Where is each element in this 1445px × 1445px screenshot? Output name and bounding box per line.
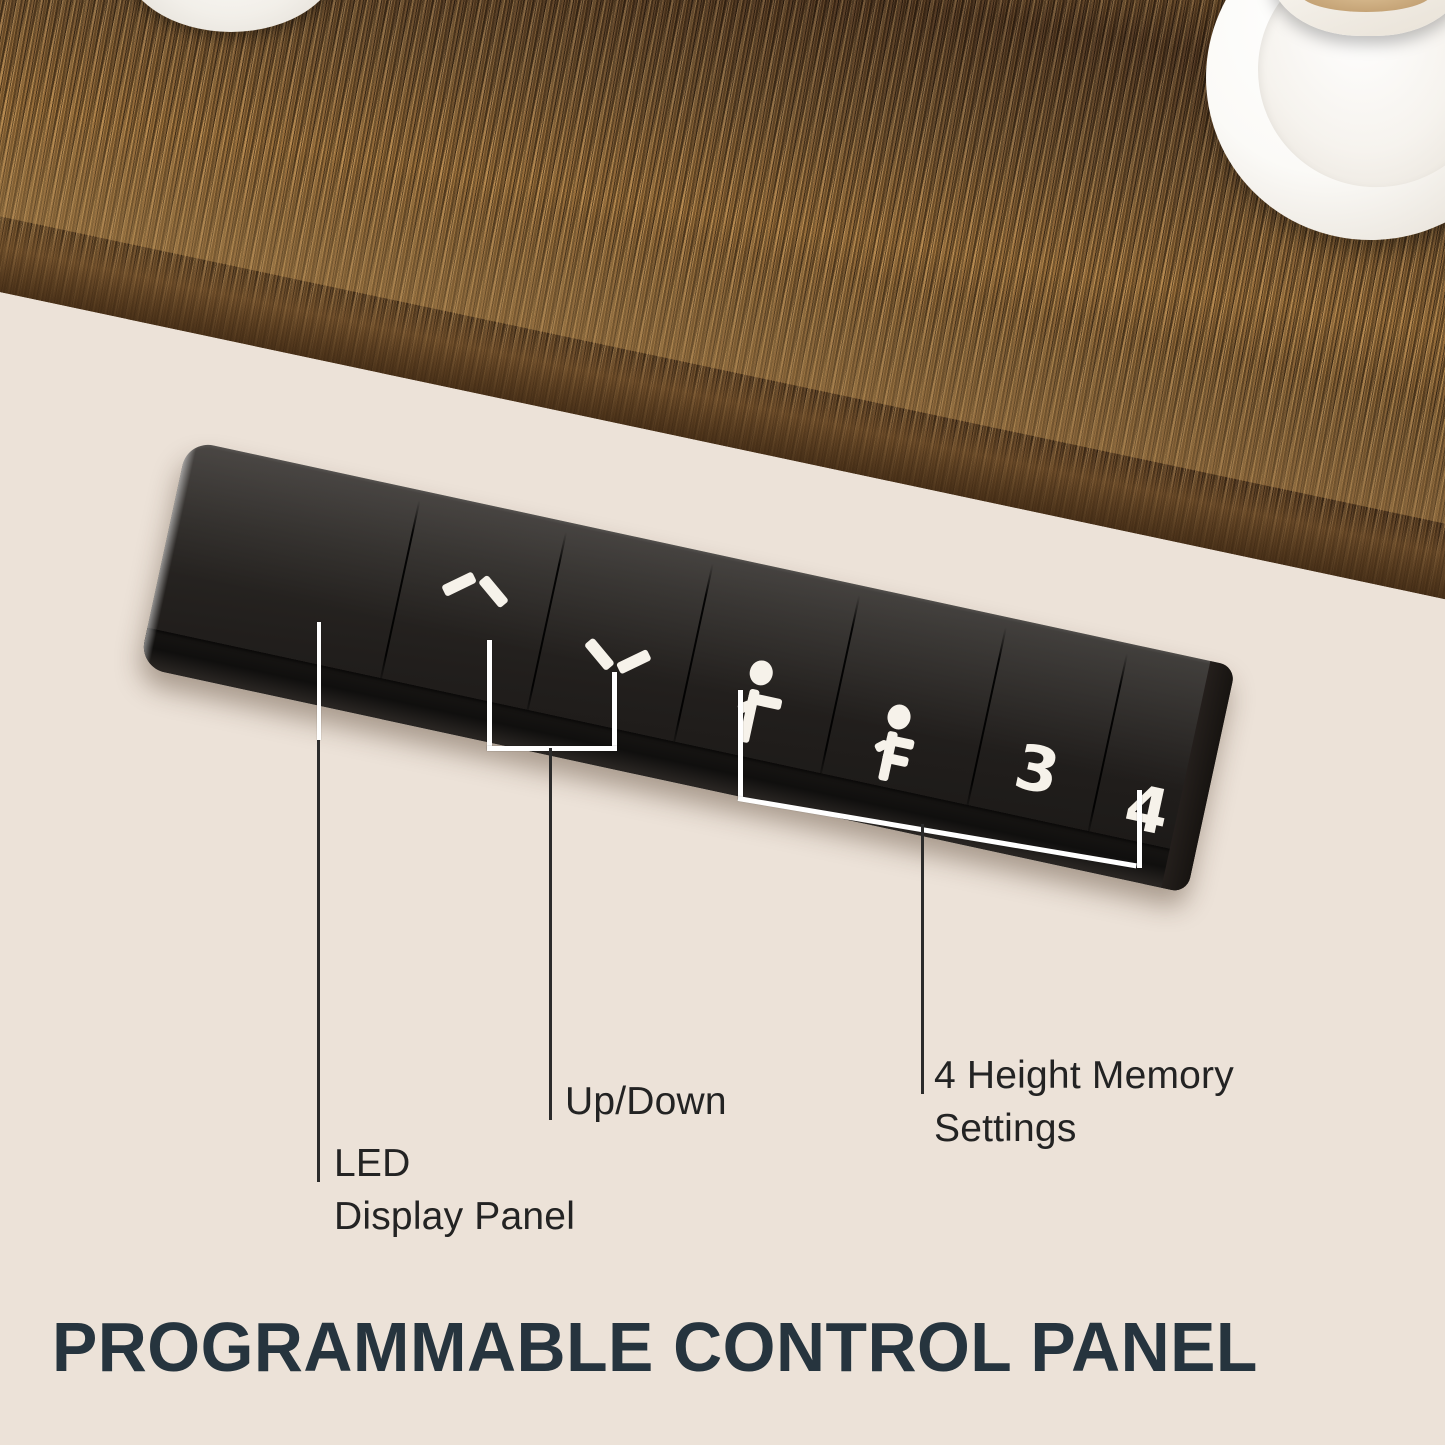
callout-stem-preset1 xyxy=(738,690,743,800)
standing-person-icon xyxy=(725,656,798,752)
preset-4-label: 4 xyxy=(1119,775,1174,845)
callout-label-memory-line2: Settings xyxy=(934,1105,1077,1153)
callout-line-memory xyxy=(921,824,924,1094)
product-feature-image: 3 4 LED Display Panel Up/Down 4 Height M… xyxy=(0,0,1445,1445)
preset-3-label: 3 xyxy=(1009,735,1064,805)
callout-label-updown: Up/Down xyxy=(565,1078,727,1126)
callout-stem-down xyxy=(612,672,617,750)
callout-line-updown xyxy=(549,748,552,1120)
callout-label-memory-line1: 4 Height Memory xyxy=(934,1052,1234,1100)
headline: PROGRAMMABLE CONTROL PANEL xyxy=(52,1307,1258,1387)
callout-line-led-white xyxy=(317,622,321,740)
callout-label-led-line2: Display Panel xyxy=(334,1193,575,1241)
callout-stem-up xyxy=(487,640,492,750)
sitting-person-icon xyxy=(868,701,940,791)
callout-bracket-updown xyxy=(487,746,617,751)
chevron-up-icon xyxy=(439,586,506,628)
callout-label-led-line1: LED xyxy=(334,1140,410,1188)
callout-stem-preset4 xyxy=(1137,790,1142,868)
